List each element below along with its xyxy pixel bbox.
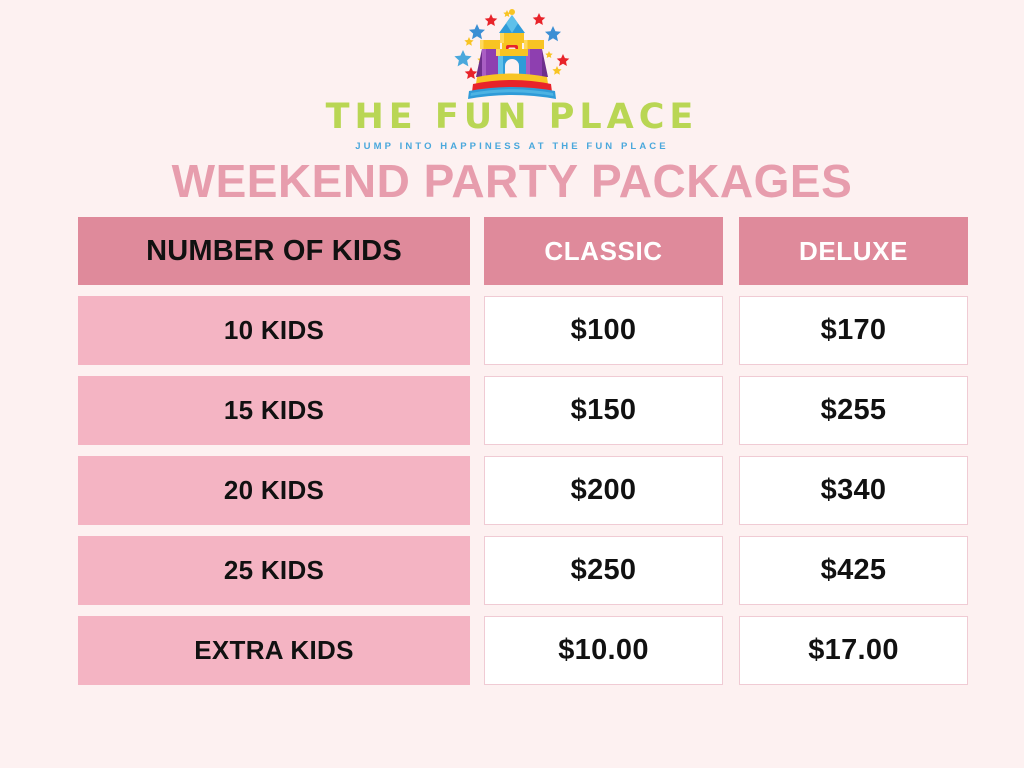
table-row: EXTRA KIDS $10.00 $17.00 [78, 616, 968, 685]
price-deluxe: $170 [739, 296, 968, 365]
row-label-kids: EXTRA KIDS [78, 616, 470, 685]
table-row: 15 KIDS $150 $255 [78, 376, 968, 445]
table-row: 25 KIDS $250 $425 [78, 536, 968, 605]
table-header-row: NUMBER OF KIDS CLASSIC DELUXE [78, 217, 968, 285]
price-deluxe: $425 [739, 536, 968, 605]
row-label-kids: 25 KIDS [78, 536, 470, 605]
bouncy-castle-icon [447, 4, 577, 102]
table-row: 10 KIDS $100 $170 [78, 296, 968, 365]
page-title: WEEKEND PARTY PACKAGES [0, 158, 1024, 204]
party-package-poster: THE FUN PLACE JUMP INTO HAPPINESS AT THE… [0, 0, 1024, 768]
row-label-kids: 10 KIDS [78, 296, 470, 365]
price-classic: $10.00 [484, 616, 723, 685]
brand-tagline: JUMP INTO HAPPINESS AT THE FUN PLACE [355, 142, 668, 152]
brand-name: THE FUN PLACE [326, 100, 699, 135]
price-deluxe: $255 [739, 376, 968, 445]
column-header-classic: CLASSIC [484, 217, 723, 285]
price-deluxe: $17.00 [739, 616, 968, 685]
brand-logo: THE FUN PLACE JUMP INTO HAPPINESS AT THE… [0, 4, 1024, 152]
price-classic: $150 [484, 376, 723, 445]
price-classic: $100 [484, 296, 723, 365]
column-header-deluxe: DELUXE [739, 217, 968, 285]
price-classic: $200 [484, 456, 723, 525]
pricing-table: NUMBER OF KIDS CLASSIC DELUXE 10 KIDS $1… [78, 217, 968, 685]
price-classic: $250 [484, 536, 723, 605]
row-label-kids: 20 KIDS [78, 456, 470, 525]
table-row: 20 KIDS $200 $340 [78, 456, 968, 525]
price-deluxe: $340 [739, 456, 968, 525]
column-header-number-of-kids: NUMBER OF KIDS [78, 217, 470, 285]
row-label-kids: 15 KIDS [78, 376, 470, 445]
